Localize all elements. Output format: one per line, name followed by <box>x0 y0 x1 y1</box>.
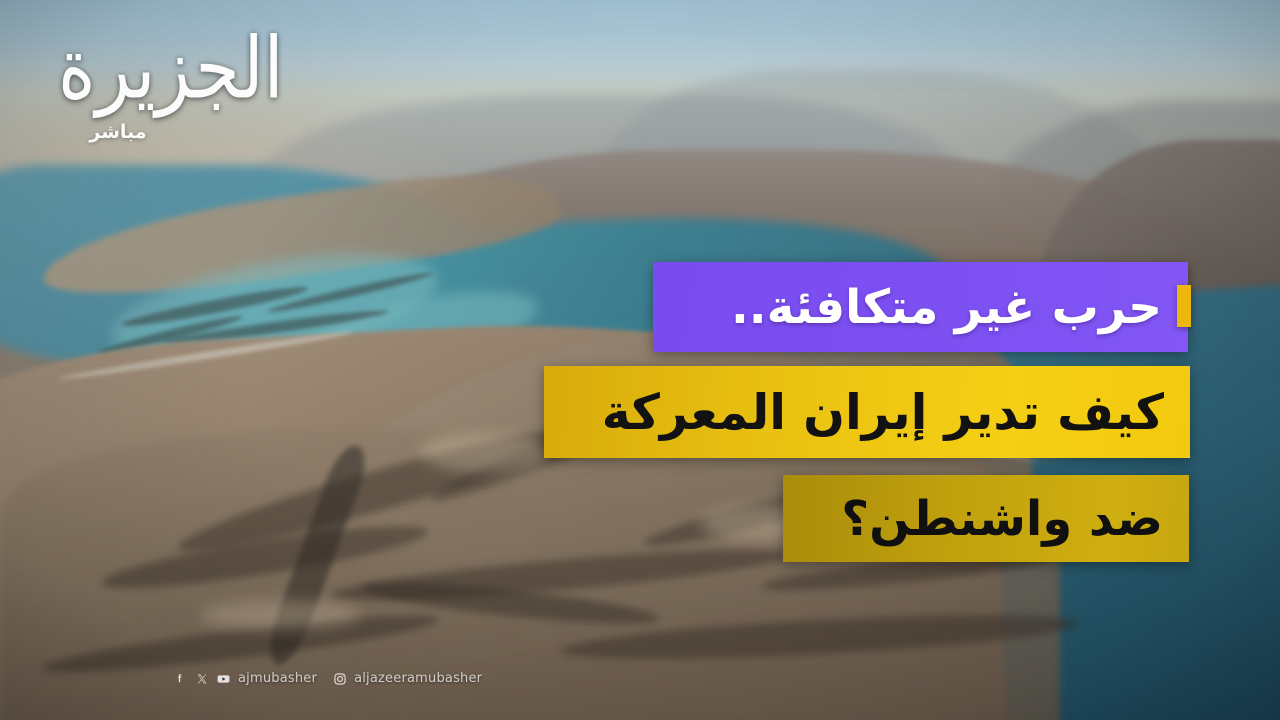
instagram-icon <box>332 671 347 686</box>
terrain-highlight <box>420 432 550 472</box>
headline-line-3-text: ضد واشنطن؟ <box>841 495 1163 543</box>
youtube-icon <box>216 671 231 686</box>
social-handles-bar: ajmubasher aljazeeramubasher <box>172 671 482 686</box>
terrain-highlight <box>200 600 360 630</box>
headline-line-2: كيف تدير إيران المعركة <box>544 366 1190 458</box>
channel-logo-subtitle: مباشر <box>58 121 178 143</box>
aljazeera-logo-icon: الجزيرة <box>58 25 178 112</box>
channel-logo: الجزيرة مباشر <box>58 32 178 143</box>
headline-line-3: ضد واشنطن؟ <box>783 475 1189 562</box>
broadcast-frame: الجزيرة مباشر حرب غير متكافئة.. كيف تدير… <box>0 0 1280 720</box>
social-handle-primary: ajmubasher <box>238 671 317 686</box>
headline-line-2-text: كيف تدير إيران المعركة <box>602 388 1164 437</box>
facebook-icon <box>172 671 187 686</box>
x-icon <box>194 671 209 686</box>
headline-line-1: حرب غير متكافئة.. <box>653 262 1188 352</box>
social-handle-secondary: aljazeeramubasher <box>354 671 482 686</box>
headline-line-1-text: حرب غير متكافئة.. <box>731 284 1162 331</box>
